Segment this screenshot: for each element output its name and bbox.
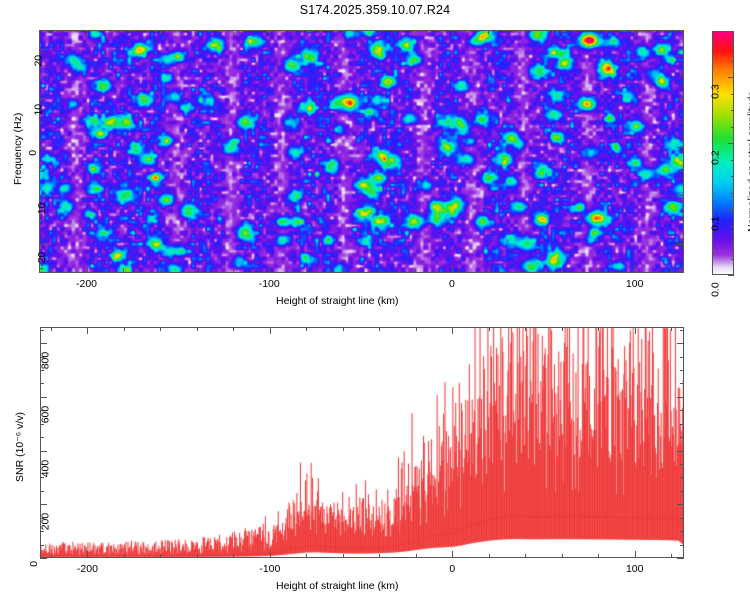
axis-tick: [269, 30, 270, 37]
axis-tick: [40, 491, 44, 492]
axis-tick: [306, 269, 307, 273]
axis-tick: [40, 383, 44, 384]
axis-tick: [680, 424, 684, 425]
axis-tick: [731, 226, 734, 227]
axis-tick: [160, 327, 161, 331]
axis-tick: [489, 327, 490, 331]
axis-tick: [123, 269, 124, 273]
axis-tick: [40, 504, 47, 505]
axis-tick: [269, 266, 270, 273]
axis-tick: [40, 531, 44, 532]
axis-tick-label: 600: [40, 406, 52, 424]
axis-tick: [124, 327, 125, 331]
axis-tick: [680, 268, 684, 269]
axis-tick: [677, 343, 684, 344]
axis-tick: [233, 269, 234, 273]
axis-tick: [489, 554, 490, 558]
axis-tick: [452, 551, 453, 558]
axis-tick: [677, 558, 684, 559]
axis-tick: [635, 327, 636, 334]
axis-tick: [39, 74, 43, 75]
axis-tick: [50, 269, 51, 273]
axis-tick: [416, 327, 417, 331]
colorbar-tick-label: 0.0: [710, 282, 722, 297]
axis-tick: [40, 477, 44, 478]
axis-tick: [40, 424, 44, 425]
axis-tick: [671, 30, 672, 34]
axis-tick: [731, 127, 734, 128]
axis-tick: [680, 477, 684, 478]
axis-tick-label: 0: [438, 563, 466, 575]
axis-tick: [731, 176, 734, 177]
snr-y-axis-label: SNR (10⁻⁶ v/v): [14, 412, 26, 482]
axis-tick: [680, 370, 684, 371]
axis-tick: [680, 122, 684, 123]
axis-tick: [51, 554, 52, 558]
axis-tick: [680, 330, 684, 331]
axis-tick: [731, 259, 734, 260]
axis-tick: [233, 327, 234, 331]
axis-tick: [452, 266, 453, 273]
axis-tick-label: 0: [28, 561, 40, 567]
axis-tick: [270, 551, 271, 558]
figure-title: S174.2025.359.10.07.R24: [0, 3, 750, 17]
axis-tick: [379, 327, 380, 331]
colorbar-label: Normalized spectral amplitude: [746, 91, 750, 232]
axis-tick: [728, 143, 734, 144]
axis-tick: [306, 30, 307, 34]
axis-tick: [677, 451, 684, 452]
axis-tick: [680, 74, 684, 75]
axis-tick: [598, 327, 599, 331]
spectrogram-frame: [39, 30, 684, 273]
snr-x-axis-label: Height of straight line (km): [276, 580, 399, 592]
axis-tick: [40, 437, 44, 438]
axis-tick: [731, 110, 734, 111]
axis-tick: [160, 554, 161, 558]
axis-tick: [680, 220, 684, 221]
axis-tick: [40, 451, 47, 452]
axis-tick: [40, 558, 47, 559]
axis-tick: [197, 554, 198, 558]
snr-frame: [40, 327, 684, 558]
axis-tick: [87, 266, 88, 273]
axis-tick: [39, 268, 43, 269]
axis-tick: [416, 554, 417, 558]
axis-tick: [40, 370, 44, 371]
axis-tick: [598, 554, 599, 558]
axis-tick: [728, 77, 734, 78]
axis-tick: [680, 171, 684, 172]
axis-tick: [525, 30, 526, 34]
axis-tick: [635, 266, 636, 273]
axis-tick: [562, 30, 563, 34]
axis-tick-label: 100: [621, 563, 649, 575]
axis-tick: [671, 269, 672, 273]
axis-tick: [598, 30, 599, 34]
axis-tick: [680, 383, 684, 384]
colorbar-tick-label: 0.2: [710, 150, 722, 165]
axis-tick: [379, 30, 380, 34]
axis-tick: [39, 98, 46, 99]
axis-tick: [50, 30, 51, 34]
axis-tick-label: 400: [40, 459, 52, 477]
axis-tick: [731, 44, 734, 45]
axis-tick: [40, 343, 47, 344]
axis-tick: [680, 531, 684, 532]
axis-tick: [415, 269, 416, 273]
axis-tick: [39, 244, 46, 245]
axis-tick: [39, 122, 43, 123]
axis-tick: [525, 269, 526, 273]
axis-tick: [562, 327, 563, 331]
axis-tick: [415, 30, 416, 34]
axis-tick-label: 200: [40, 513, 52, 531]
axis-tick: [39, 171, 43, 172]
axis-tick: [39, 195, 46, 196]
axis-tick-label: 10: [33, 104, 45, 116]
axis-tick-label: -10: [36, 203, 48, 218]
axis-tick: [731, 160, 734, 161]
axis-tick: [677, 504, 684, 505]
axis-tick: [525, 554, 526, 558]
axis-tick: [270, 327, 271, 334]
axis-tick-label: 800: [40, 352, 52, 370]
axis-tick-label: 20: [33, 55, 45, 67]
axis-tick: [342, 269, 343, 273]
axis-tick: [677, 195, 684, 196]
axis-tick: [40, 545, 44, 546]
axis-tick: [379, 269, 380, 273]
axis-tick-label: -100: [255, 278, 283, 290]
axis-tick: [731, 193, 734, 194]
axis-tick-label: -20: [36, 251, 48, 266]
axis-tick: [671, 554, 672, 558]
axis-tick: [562, 269, 563, 273]
axis-tick: [39, 49, 46, 50]
axis-tick: [677, 49, 684, 50]
spectrogram-y-axis-label: Frequency (Hz): [12, 113, 24, 185]
axis-tick: [40, 330, 44, 331]
axis-tick: [728, 209, 734, 210]
axis-tick: [233, 554, 234, 558]
axis-tick: [452, 327, 453, 334]
axis-tick: [731, 242, 734, 243]
axis-tick: [488, 269, 489, 273]
axis-tick: [87, 30, 88, 37]
axis-tick: [160, 30, 161, 34]
colorbar-tick-label: 0.1: [710, 216, 722, 231]
axis-tick: [160, 269, 161, 273]
axis-tick: [680, 357, 684, 358]
axis-tick-label: 0: [27, 150, 39, 156]
colorbar-tick-label: 0.3: [710, 84, 722, 99]
axis-tick: [680, 491, 684, 492]
axis-tick: [87, 551, 88, 558]
axis-tick: [39, 147, 46, 148]
axis-tick: [123, 30, 124, 34]
axis-tick: [525, 327, 526, 331]
axis-tick: [306, 554, 307, 558]
axis-tick: [233, 30, 234, 34]
axis-tick-label: 100: [621, 278, 649, 290]
axis-tick-label: -200: [73, 563, 101, 575]
axis-tick: [731, 94, 734, 95]
axis-tick: [196, 269, 197, 273]
axis-tick: [680, 410, 684, 411]
axis-tick: [731, 61, 734, 62]
axis-tick: [677, 244, 684, 245]
axis-tick: [677, 147, 684, 148]
axis-tick: [343, 327, 344, 331]
axis-tick: [87, 327, 88, 334]
axis-tick: [677, 397, 684, 398]
axis-tick-label: -200: [73, 278, 101, 290]
axis-tick: [680, 464, 684, 465]
axis-tick: [671, 327, 672, 331]
axis-tick: [488, 30, 489, 34]
axis-tick: [379, 554, 380, 558]
axis-tick: [306, 327, 307, 331]
axis-tick: [196, 30, 197, 34]
axis-tick: [197, 327, 198, 331]
axis-tick: [728, 275, 734, 276]
axis-tick: [51, 327, 52, 331]
axis-tick: [39, 220, 43, 221]
spectrogram-x-axis-label: Height of straight line (km): [276, 295, 399, 307]
axis-tick: [342, 30, 343, 34]
axis-tick: [680, 545, 684, 546]
axis-tick-label: 0: [438, 278, 466, 290]
axis-tick: [680, 437, 684, 438]
axis-tick: [124, 554, 125, 558]
figure-root: S174.2025.359.10.07.R24 -200-10001002010…: [0, 0, 750, 600]
axis-tick: [635, 30, 636, 37]
axis-tick: [635, 551, 636, 558]
axis-tick: [598, 269, 599, 273]
axis-tick: [677, 98, 684, 99]
axis-tick-label: -100: [256, 563, 284, 575]
axis-tick: [680, 518, 684, 519]
axis-tick: [40, 397, 47, 398]
axis-tick: [343, 554, 344, 558]
axis-tick: [452, 30, 453, 37]
axis-tick: [562, 554, 563, 558]
